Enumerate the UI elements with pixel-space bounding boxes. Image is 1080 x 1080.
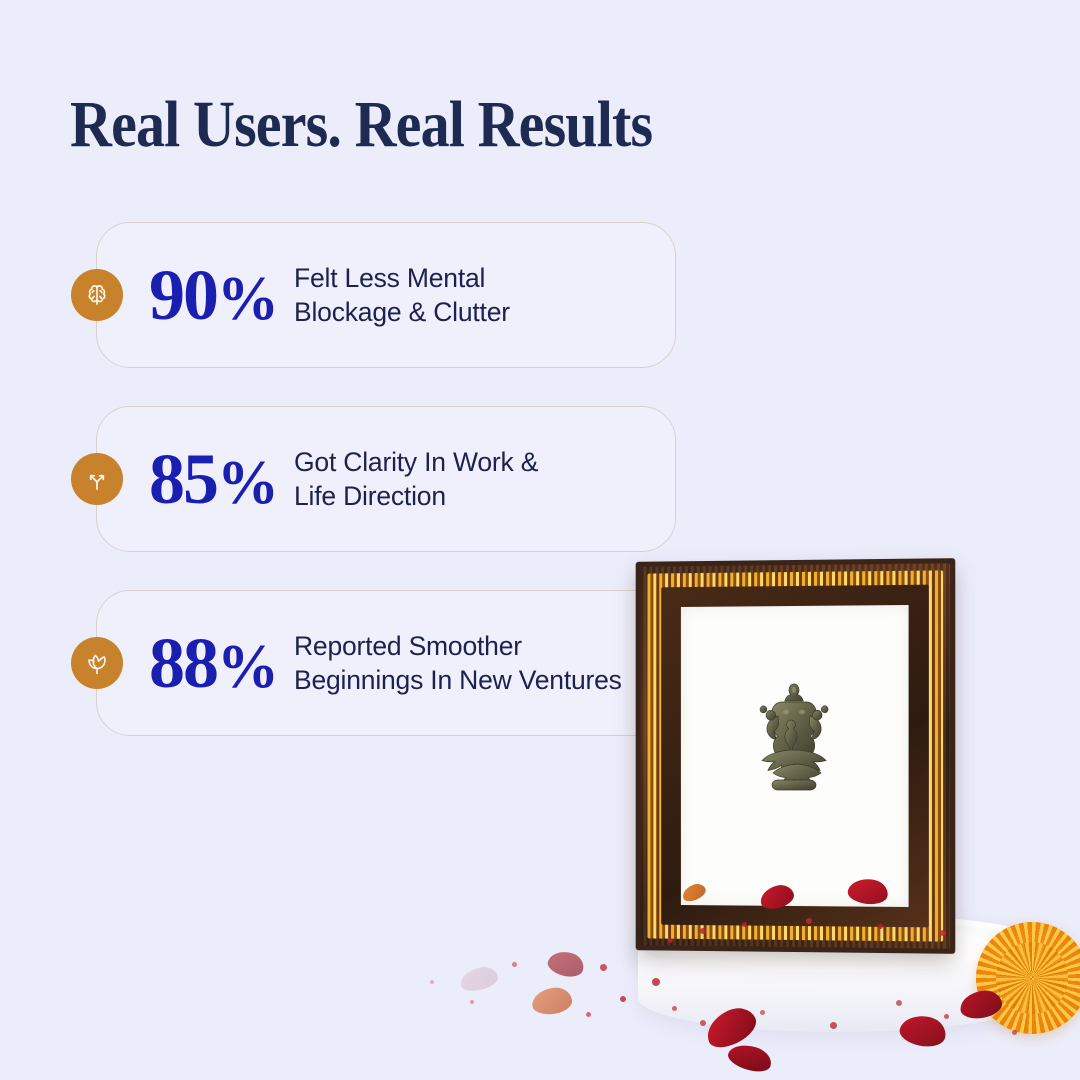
stat-card-new-ventures[interactable]: 88% Reported Smoother Beginnings In New … (96, 590, 676, 736)
kumkum-speck (940, 930, 946, 936)
kumkum-speck (830, 1022, 837, 1029)
kumkum-speck (672, 1006, 677, 1011)
stats-list: 90% Felt Less Mental Blockage & Clutter (96, 222, 676, 774)
kumkum-speck (700, 928, 706, 934)
kumkum-speck (430, 980, 434, 984)
kumkum-speck (896, 1000, 902, 1006)
brain-icon (71, 269, 123, 321)
kumkum-speck (470, 1000, 474, 1004)
kumkum-speck (586, 1012, 591, 1017)
kumkum-speck (600, 964, 607, 971)
kumkum-speck (620, 996, 626, 1002)
ganesha-idol (734, 676, 854, 837)
poster-canvas: Real Users. Real Results 90% Felt Less M… (0, 0, 1080, 1080)
kumkum-speck (652, 978, 660, 986)
kumkum-speck (944, 1014, 949, 1019)
page-title: Real Users. Real Results (70, 92, 652, 158)
stat-card-mental-clarity[interactable]: 90% Felt Less Mental Blockage & Clutter (96, 222, 676, 368)
stat-percent: 85% (149, 443, 278, 515)
frame-mat (681, 605, 909, 907)
kumkum-speck (1012, 1030, 1017, 1035)
stat-label: Reported Smoother Beginnings In New Vent… (294, 629, 622, 698)
product-photo (610, 520, 1080, 1080)
stat-card-content: 85% Got Clarity In Work & Life Direction (97, 443, 538, 515)
stat-percent: 90% (149, 259, 278, 331)
kumkum-speck (742, 922, 747, 927)
rose-petal-faded (545, 948, 586, 981)
fork-road-icon (71, 453, 123, 505)
rose-petal-faded (458, 964, 500, 993)
kumkum-speck (760, 1010, 765, 1015)
stat-card-content: 90% Felt Less Mental Blockage & Clutter (97, 259, 510, 331)
stat-label: Felt Less Mental Blockage & Clutter (294, 261, 510, 330)
marigold-flower (976, 922, 1080, 1034)
stat-label: Got Clarity In Work & Life Direction (294, 445, 538, 514)
kumkum-speck (512, 962, 517, 967)
kumkum-speck (700, 1020, 706, 1026)
rose-petal (725, 1040, 774, 1076)
rose-petal-faded (531, 986, 573, 1016)
kumkum-speck (806, 918, 812, 924)
stat-card-life-direction[interactable]: 85% Got Clarity In Work & Life Direction (96, 406, 676, 552)
stat-card-content: 88% Reported Smoother Beginnings In New … (97, 627, 622, 699)
kumkum-speck (668, 938, 673, 943)
lotus-bud-icon (71, 637, 123, 689)
kumkum-speck (878, 924, 883, 929)
stat-percent: 88% (149, 627, 278, 699)
